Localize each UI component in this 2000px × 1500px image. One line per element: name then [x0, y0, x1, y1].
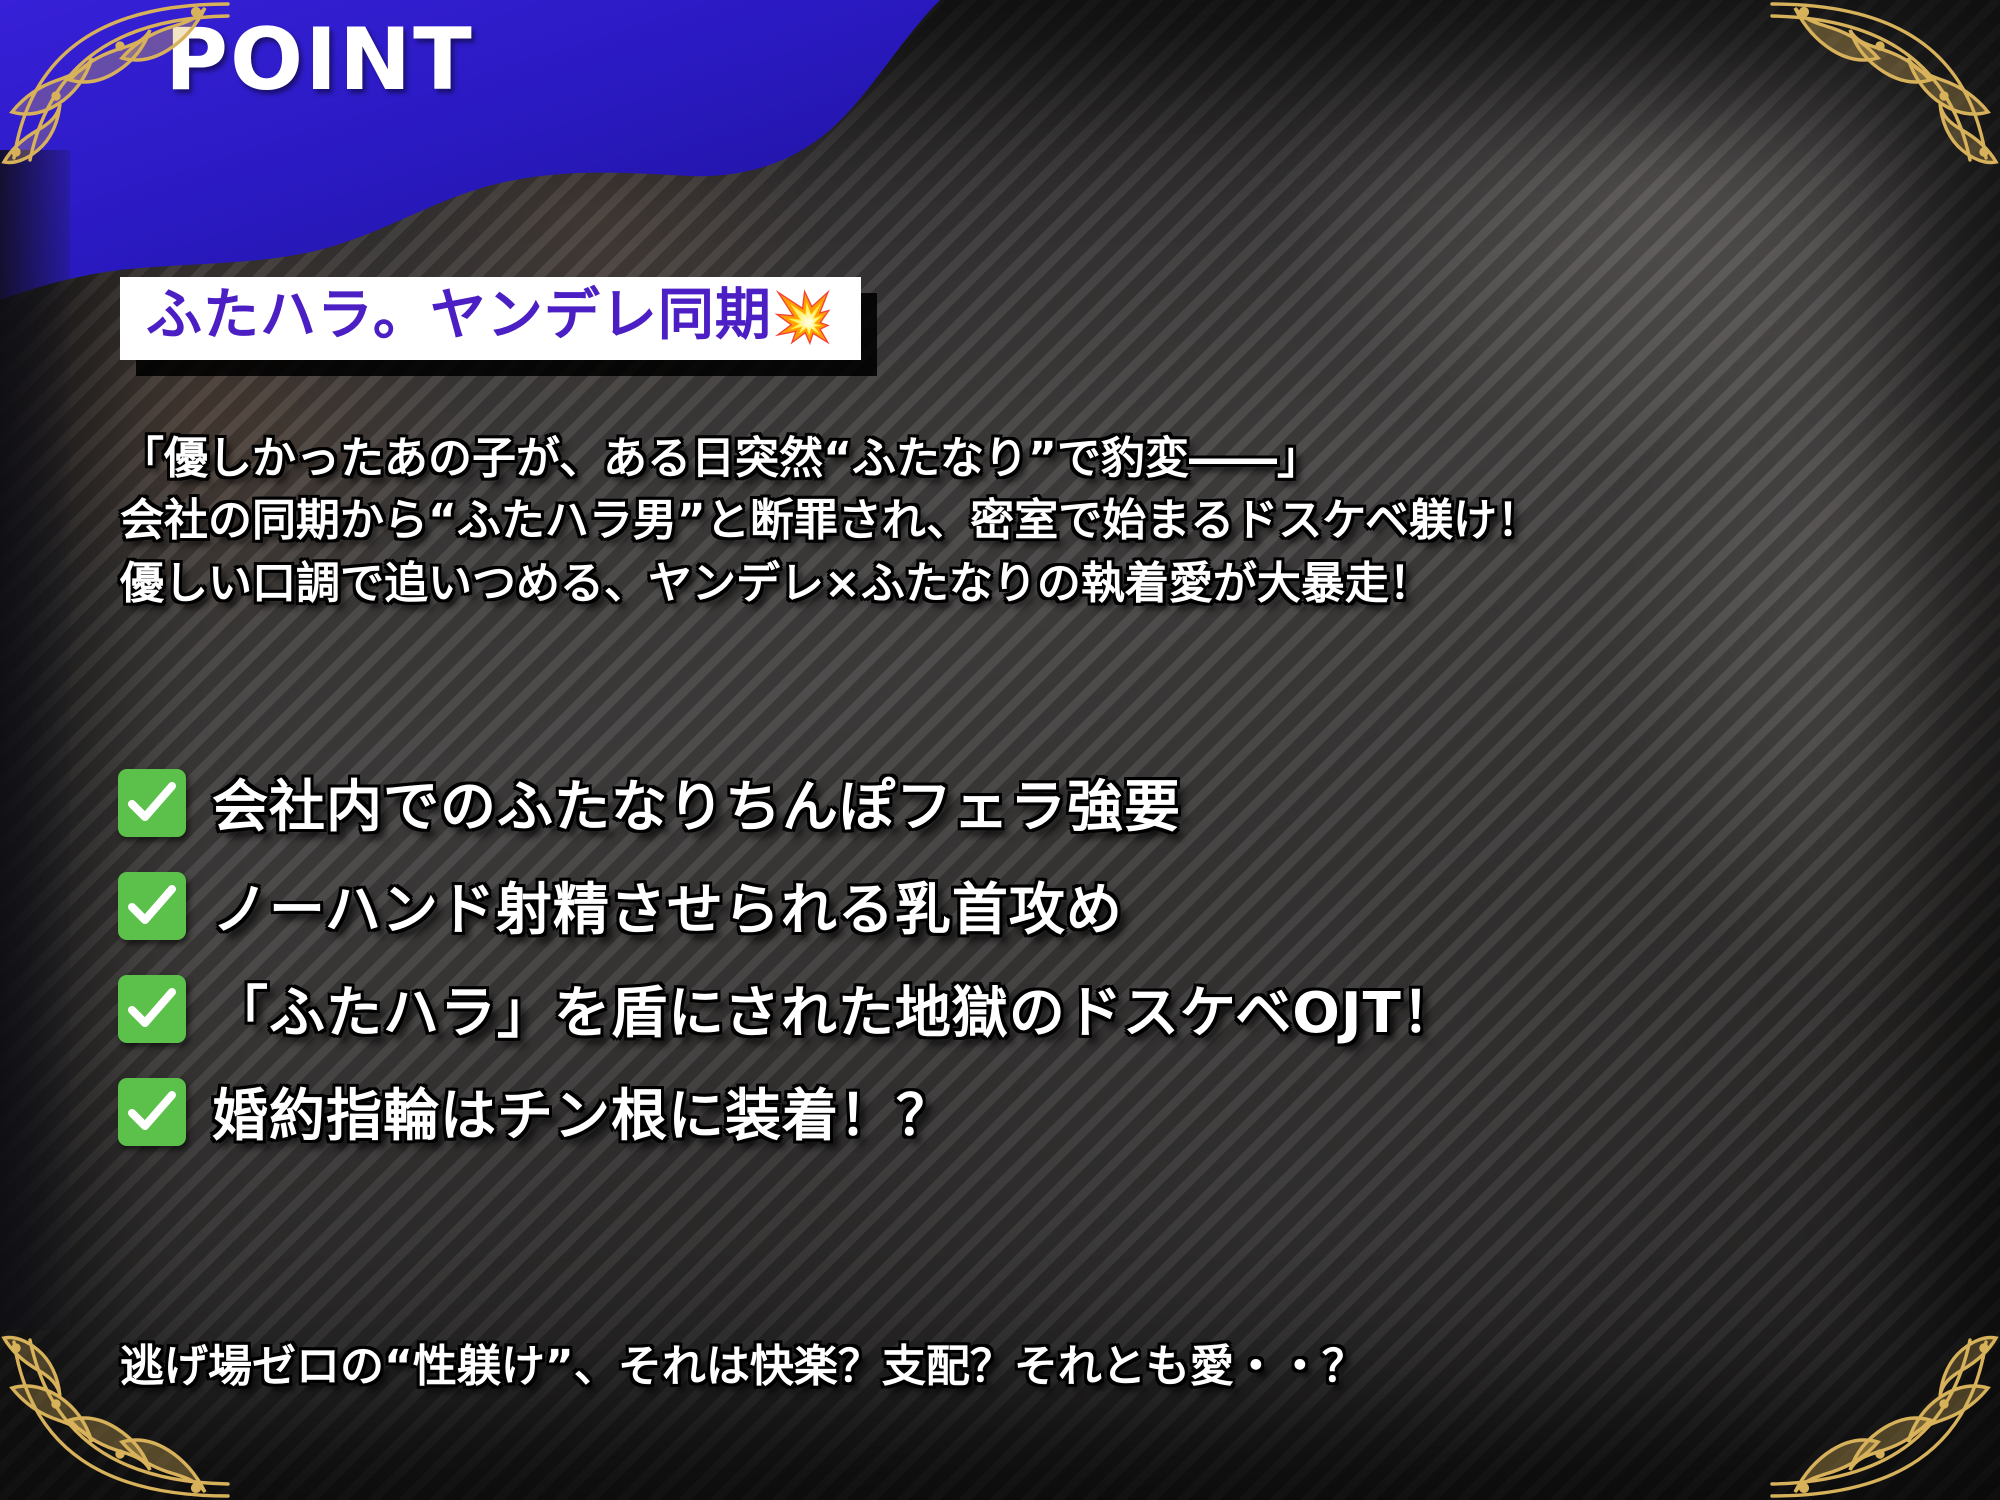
ornament-corner-top-right: [1770, 0, 2000, 190]
list-item-label: 婚約指輪はチン根に装着！？: [212, 1071, 953, 1152]
check-icon: [118, 872, 186, 940]
title-banner: ふたハラ。ヤンデレ同期💥: [120, 277, 861, 360]
description-block: 「優しかったあの子が、ある日突然“ふたなり”で豹変――」 会社の同期から“ふたハ…: [120, 428, 1880, 615]
description-line: 優しい口調で追いつめる、ヤンデレ×ふたなりの執着愛が大暴走！: [120, 553, 1880, 615]
list-item: 婚約指輪はチン根に装着！？: [118, 1071, 1918, 1152]
list-item: ノーハンド射精させられる乳首攻め: [118, 865, 1918, 946]
title-banner-label: ふたハラ。ヤンデレ同期: [146, 283, 772, 348]
feature-checklist: 会社内でのふたなりちんぽフェラ強要 ノーハンド射精させられる乳首攻め 「ふたハラ…: [118, 762, 1918, 1174]
ornament-corner-top-left: [0, 0, 230, 190]
ornament-corner-bottom-right: [1770, 1310, 2000, 1500]
check-icon: [118, 975, 186, 1043]
list-item-label: ノーハンド射精させられる乳首攻め: [212, 865, 1123, 946]
description-line: 会社の同期から“ふたハラ男”と断罪され、密室で始まるドスケベ躾け！: [120, 490, 1880, 552]
explosion-icon: 💥: [772, 288, 835, 346]
check-icon: [118, 1078, 186, 1146]
title-banner-text: ふたハラ。ヤンデレ同期💥: [146, 287, 835, 346]
list-item: 「ふたハラ」を盾にされた地獄のドスケベOJT！: [118, 968, 1918, 1049]
list-item: 会社内でのふたなりちんぽフェラ強要: [118, 762, 1918, 843]
ornament-corner-bottom-left: [0, 1310, 230, 1500]
list-item-label: 会社内でのふたなりちんぽフェラ強要: [212, 762, 1181, 843]
closing-line: 逃げ場ゼロの“性躾け”、それは快楽？支配？それとも愛・・？: [120, 1330, 1920, 1394]
content-root: ふたハラ。ヤンデレ同期💥 「優しかったあの子が、ある日突然“ふたなり”で豹変――…: [0, 0, 2000, 1500]
description-line: 「優しかったあの子が、ある日突然“ふたなり”で豹変――」: [120, 428, 1880, 490]
check-icon: [118, 769, 186, 837]
list-item-label: 「ふたハラ」を盾にされた地獄のドスケベOJT！: [212, 968, 1459, 1049]
